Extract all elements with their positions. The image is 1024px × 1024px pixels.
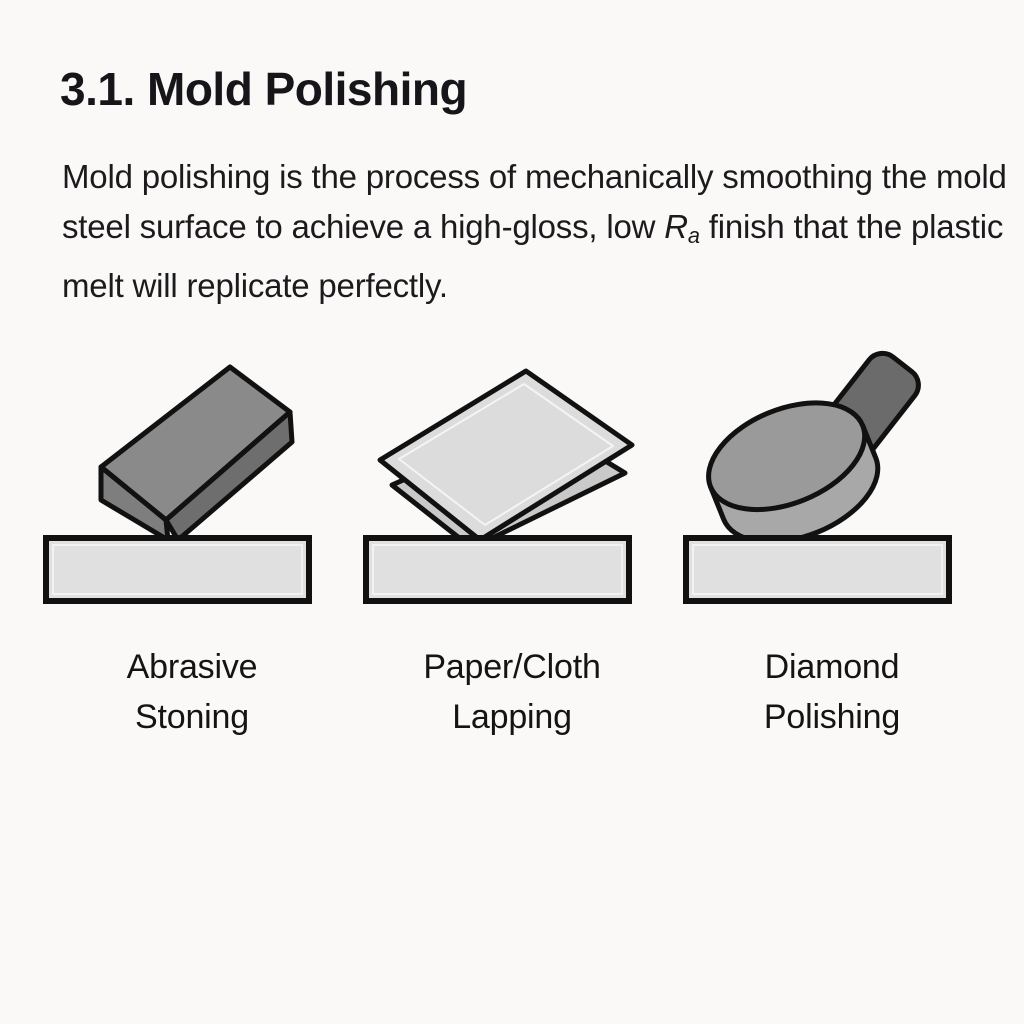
stacked-sheets-icon xyxy=(360,350,664,612)
abrasive-stone-block-icon xyxy=(40,350,344,612)
figure-paper-cloth-lapping: Paper/Cloth Lapping xyxy=(360,350,664,742)
roughness-symbol: Ra xyxy=(664,208,700,245)
figure-caption: Paper/Cloth Lapping xyxy=(423,642,600,742)
figure-caption: Abrasive Stoning xyxy=(127,642,258,742)
roughness-symbol-letter: R xyxy=(664,208,688,245)
section-description: Mold polishing is the process of mechani… xyxy=(62,152,1010,311)
figure-page: 3.1. Mold Polishing Mold polishing is th… xyxy=(0,0,1024,1024)
figure-caption: Diamond Polishing xyxy=(764,642,900,742)
workpiece-slab xyxy=(686,538,949,601)
rotary-polishing-tool-icon xyxy=(680,350,984,612)
polishing-methods-row: Abrasive Stoning xyxy=(0,350,1024,750)
figure-diamond-polishing: Diamond Polishing xyxy=(680,350,984,742)
figure-abrasive-stoning: Abrasive Stoning xyxy=(40,350,344,742)
page-title: 3.1. Mold Polishing xyxy=(60,60,960,118)
workpiece-slab xyxy=(366,538,629,601)
workpiece-slab xyxy=(46,538,309,601)
roughness-symbol-subscript: a xyxy=(688,223,700,248)
